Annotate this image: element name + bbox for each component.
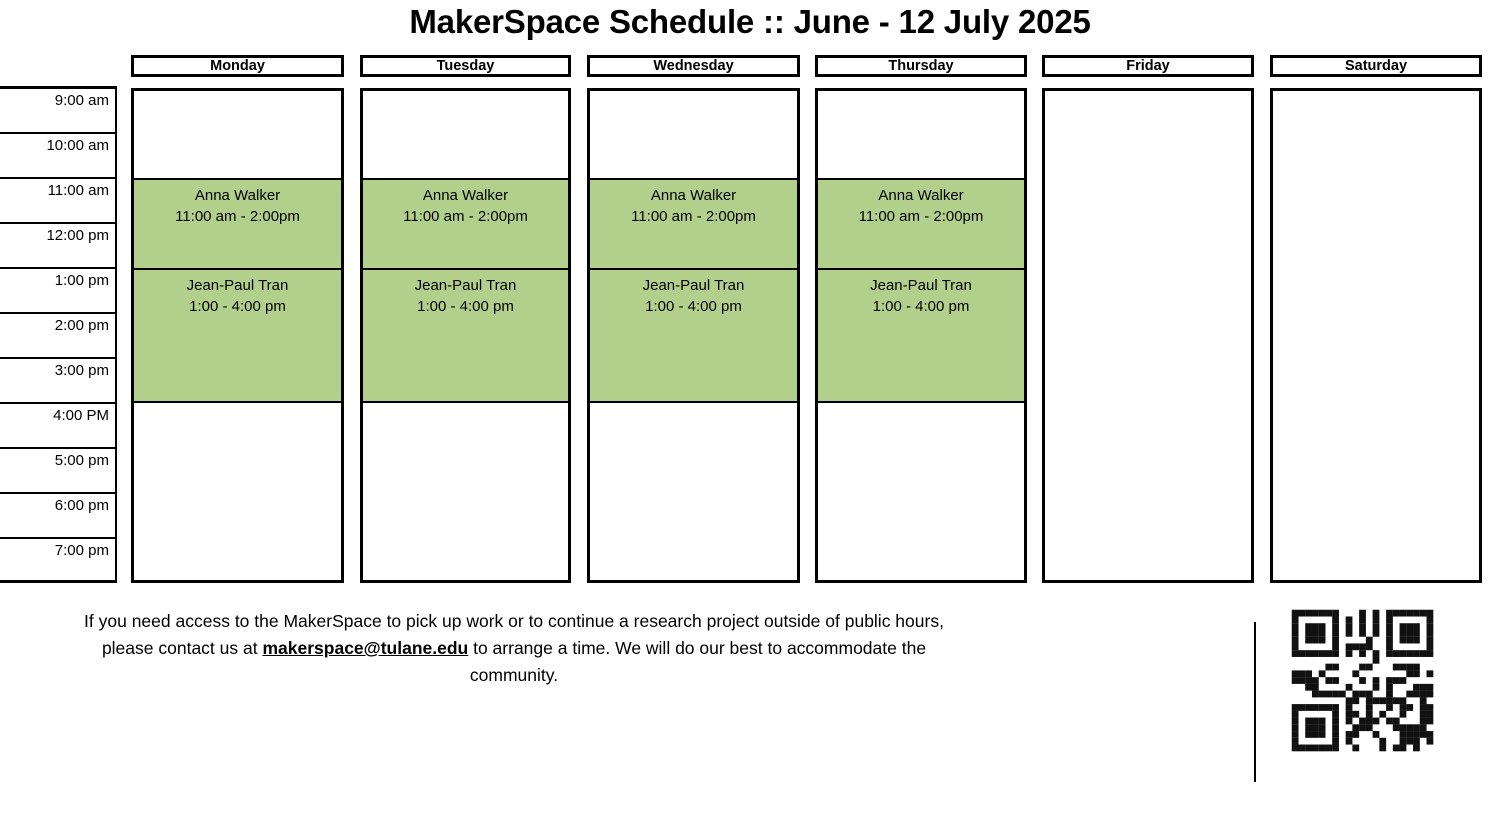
day-column-saturday[interactable] xyxy=(1270,88,1482,583)
qr-code-icon[interactable] xyxy=(1285,603,1440,758)
event-time: 1:00 - 4:00 pm xyxy=(363,296,568,317)
access-note: If you need access to the MakerSpace to … xyxy=(0,608,1028,689)
time-row: 12:00 pm xyxy=(0,224,115,269)
time-label: 2:00 pm xyxy=(55,317,109,335)
time-label: 3:00 pm xyxy=(55,362,109,380)
event-name: Jean-Paul Tran xyxy=(818,275,1024,296)
time-label: 4:00 PM xyxy=(53,407,109,425)
event-block[interactable]: Jean-Paul Tran1:00 - 4:00 pm xyxy=(818,268,1024,403)
time-label: 5:00 pm xyxy=(55,452,109,470)
access-note-line-3: community. xyxy=(470,665,558,685)
day-header-tuesday[interactable]: Tuesday xyxy=(360,55,571,77)
qr-divider xyxy=(1254,622,1256,782)
time-gutter: 9:00 am10:00 am11:00 am12:00 pm1:00 pm2:… xyxy=(0,86,117,583)
event-name: Anna Walker xyxy=(590,185,797,206)
event-name: Jean-Paul Tran xyxy=(134,275,341,296)
event-time: 1:00 - 4:00 pm xyxy=(818,296,1024,317)
time-row: 9:00 am xyxy=(0,89,115,134)
day-header-wednesday[interactable]: Wednesday xyxy=(587,55,800,77)
event-time: 11:00 am - 2:00pm xyxy=(134,206,341,227)
page-title: MakerSpace Schedule :: June - 12 July 20… xyxy=(0,2,1500,42)
event-time: 11:00 am - 2:00pm xyxy=(590,206,797,227)
time-row: 7:00 pm xyxy=(0,539,115,584)
day-header-saturday[interactable]: Saturday xyxy=(1270,55,1482,77)
time-row: 3:00 pm xyxy=(0,359,115,404)
time-label: 6:00 pm xyxy=(55,497,109,515)
event-name: Anna Walker xyxy=(818,185,1024,206)
event-time: 11:00 am - 2:00pm xyxy=(363,206,568,227)
time-row: 6:00 pm xyxy=(0,494,115,539)
event-time: 1:00 - 4:00 pm xyxy=(590,296,797,317)
time-row: 2:00 pm xyxy=(0,314,115,359)
schedule-calendar: 9:00 am10:00 am11:00 am12:00 pm1:00 pm2:… xyxy=(0,53,1500,585)
day-header-thursday[interactable]: Thursday xyxy=(815,55,1027,77)
event-block[interactable]: Jean-Paul Tran1:00 - 4:00 pm xyxy=(363,268,568,403)
access-note-line-2-suffix: to arrange a time. We will do our best t… xyxy=(468,638,926,658)
time-label: 12:00 pm xyxy=(46,227,109,245)
time-row: 4:00 PM xyxy=(0,404,115,449)
day-header-monday[interactable]: Monday xyxy=(131,55,344,77)
day-column-friday[interactable] xyxy=(1042,88,1254,583)
event-name: Anna Walker xyxy=(134,185,341,206)
event-name: Anna Walker xyxy=(363,185,568,206)
time-label: 1:00 pm xyxy=(55,272,109,290)
event-block[interactable]: Jean-Paul Tran1:00 - 4:00 pm xyxy=(590,268,797,403)
access-note-line-2-prefix: please contact us at xyxy=(102,638,263,658)
time-label: 9:00 am xyxy=(55,92,109,110)
access-note-line-1: If you need access to the MakerSpace to … xyxy=(84,611,944,631)
event-block[interactable]: Jean-Paul Tran1:00 - 4:00 pm xyxy=(134,268,341,403)
time-label: 11:00 am xyxy=(48,182,109,200)
event-time: 1:00 - 4:00 pm xyxy=(134,296,341,317)
time-row: 5:00 pm xyxy=(0,449,115,494)
qr-section: Latest schedule here xyxy=(1160,600,1490,790)
time-label: 10:00 am xyxy=(46,137,109,155)
event-time: 11:00 am - 2:00pm xyxy=(818,206,1024,227)
time-row: 10:00 am xyxy=(0,134,115,179)
time-label: 7:00 pm xyxy=(55,542,109,560)
time-row: 11:00 am xyxy=(0,179,115,224)
event-name: Jean-Paul Tran xyxy=(590,275,797,296)
time-row: 1:00 pm xyxy=(0,269,115,314)
event-name: Jean-Paul Tran xyxy=(363,275,568,296)
day-header-friday[interactable]: Friday xyxy=(1042,55,1254,77)
makerspace-email-link[interactable]: makerspace@tulane.edu xyxy=(262,638,468,658)
